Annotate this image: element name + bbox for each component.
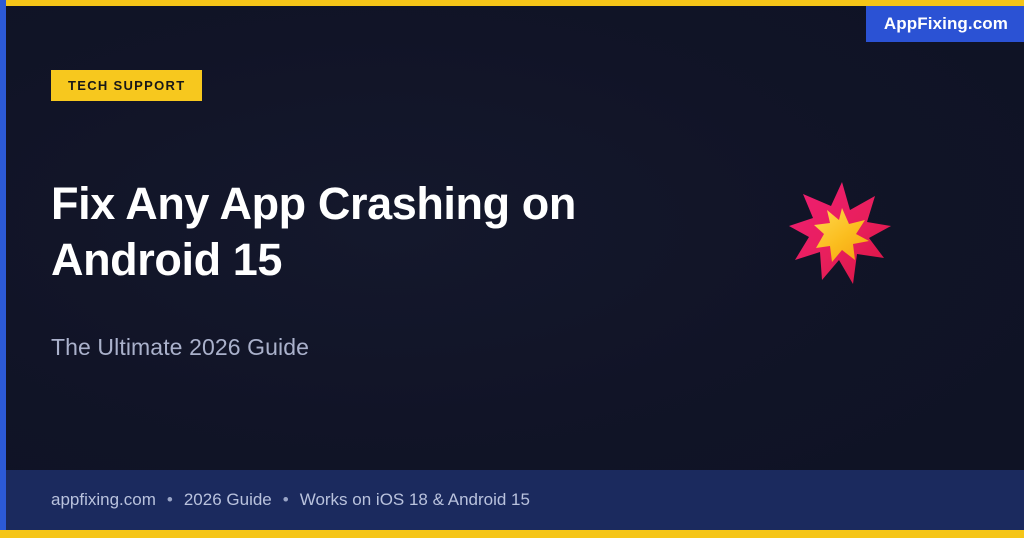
footer-separator-1: • <box>167 470 173 530</box>
category-kicker-badge: TECH SUPPORT <box>51 70 202 101</box>
footer-meta-text: appfixing.com • 2026 Guide • Works on iO… <box>51 470 530 530</box>
footer-edition: 2026 Guide <box>184 470 272 530</box>
footer-site-name: appfixing.com <box>51 470 156 530</box>
collision-explosion-icon <box>787 180 895 288</box>
page-title: Fix Any App Crashing on Android 15 <box>51 176 651 288</box>
footer-compatibility: Works on iOS 18 & Android 15 <box>300 470 530 530</box>
page-subtitle: The Ultimate 2026 Guide <box>51 332 309 362</box>
bottom-accent-rule <box>0 530 1024 538</box>
footer-meta-bar: appfixing.com • 2026 Guide • Works on iO… <box>6 470 1024 530</box>
left-accent-rule <box>0 0 6 538</box>
article-hero-banner: AppFixing.com TECH SUPPORT Fix Any App C… <box>0 0 1024 538</box>
site-brand-badge[interactable]: AppFixing.com <box>866 6 1024 42</box>
footer-separator-2: • <box>283 470 289 530</box>
